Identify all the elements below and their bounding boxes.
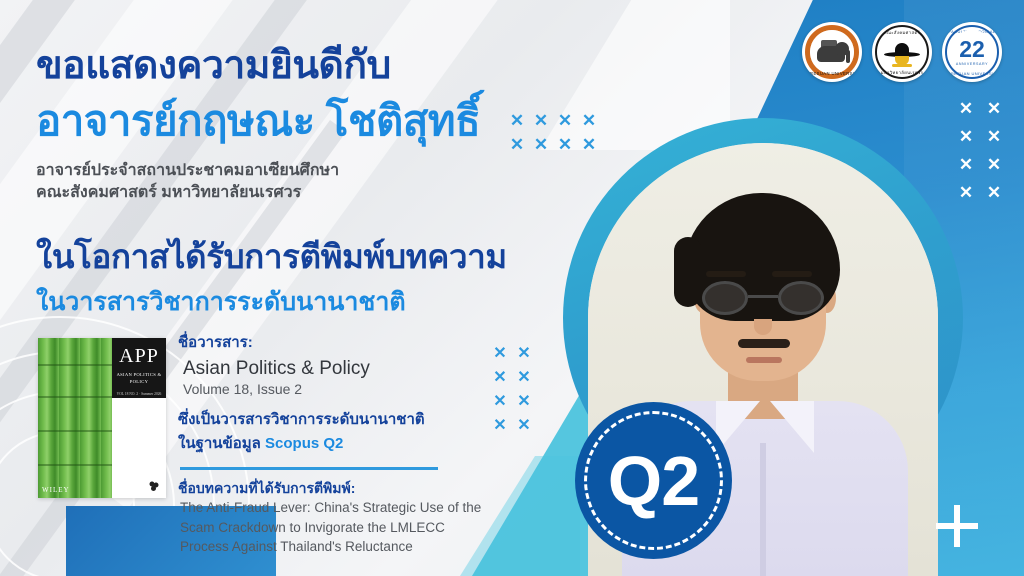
anniversary-number: 22: [959, 38, 985, 61]
x-decoration-icon: ✕: [512, 370, 536, 394]
section-divider: [180, 467, 438, 470]
headline-congratulations: ขอแสดงความยินดีกับ: [36, 34, 391, 96]
headline-occasion-2: ในวารสารวิชาการระดับนานาชาติ: [36, 282, 406, 322]
x-decoration-icon: ✕: [488, 394, 512, 418]
cover-issue-line: VOL 18 NO. 2 · Summer 2026: [112, 392, 166, 396]
x-decoration-icon: ✕: [980, 184, 1008, 212]
cover-subtitle: ASIAN POLITICS & POLICY: [112, 372, 166, 386]
indexed-note-line-2: ในฐานข้อมูล Scopus Q2: [178, 431, 343, 455]
x-decoration-icon: ✕: [529, 136, 553, 160]
journal-volume-value: Volume 18, Issue 2: [183, 381, 302, 397]
x-decoration-icon: ✕: [488, 418, 512, 442]
x-decoration-icon: ✕: [952, 128, 980, 156]
shirt-placket: [760, 443, 766, 576]
x-decoration-icon: ✕: [512, 394, 536, 418]
x-decoration-icon: ✕: [980, 156, 1008, 184]
x-decoration-icon: ✕: [512, 346, 536, 370]
cover-masthead: APP ASIAN POLITICS & POLICY VOL 18 NO. 2…: [112, 338, 166, 398]
x-decoration-icon: ✕: [505, 112, 529, 136]
x-decoration-icon: ✕: [952, 184, 980, 212]
x-decoration-icon: ✕: [488, 370, 512, 394]
cover-title: APP: [112, 345, 166, 368]
naresuan-university-seal-icon: NARESUAN UNIVERSITY: [802, 22, 862, 82]
x-decoration-icon: ✕: [529, 112, 553, 136]
seal-arc-bottom: มหาวิทยาลัยนเรศวร: [872, 69, 932, 76]
x-decoration-icon: ✕: [512, 418, 536, 442]
x-decoration-icon: ✕: [553, 112, 577, 136]
indexed-note-line-1: ซึ่งเป็นวารสารวิชาการระดับนานาชาติ: [178, 407, 425, 431]
plus-decoration-icon: [936, 505, 978, 547]
anniversary-word: ANNIVERSARY: [956, 62, 988, 66]
x-decoration-icon: ✕: [488, 346, 512, 370]
x-decoration-grid-panel: ✕✕✕✕✕✕✕✕: [952, 100, 1008, 212]
article-title-value: The Anti-Fraud Lever: China's Strategic …: [180, 498, 492, 557]
indexed-database-name: Scopus Q2: [265, 435, 343, 452]
headline-occasion-1: ในโอกาสได้รับการตีพิมพ์บทความ: [36, 230, 507, 283]
x-decoration-icon: ✕: [577, 112, 601, 136]
article-title-label: ชื่อบทความที่ได้รับการตีพิมพ์:: [178, 478, 355, 500]
moustache: [738, 339, 790, 348]
x-decoration-icon: ✕: [952, 156, 980, 184]
x-decoration-icon: ✕: [952, 100, 980, 128]
seal-arc-bottom: NARESUAN UNIVERSITY: [802, 71, 862, 76]
x-decoration-icon: ✕: [980, 100, 1008, 128]
wiley-mark-icon: [148, 480, 160, 492]
faculty-of-social-sciences-seal-icon: คณะสังคมศาสตร์ มหาวิทยาลัยนเรศวร: [872, 22, 932, 82]
collar-right: [770, 401, 814, 453]
eyebrow-right: [772, 271, 812, 277]
quartile-badge: Q2: [575, 402, 732, 559]
x-decoration-icon: ✕: [577, 136, 601, 160]
anniversary-badge-icon: FACULTY OF SOCIAL SCIENCES 22 ANNIVERSAR…: [942, 22, 1002, 82]
badge-arc-bottom: NARESUAN UNIVERSITY: [942, 71, 1002, 76]
x-decoration-grid-journal: ✕✕✕✕✕✕✕✕: [488, 346, 536, 442]
bamboo-artwork: [38, 338, 112, 498]
x-decoration-icon: ✕: [980, 128, 1008, 156]
publisher-logo: WILEY: [42, 486, 70, 494]
indexed-database-prefix: ในฐานข้อมูล: [178, 435, 265, 452]
eyeglasses: [700, 281, 826, 315]
eyebrow-left: [706, 271, 746, 277]
x-decoration-icon: ✕: [505, 136, 529, 160]
x-decoration-grid-headline: ✕✕✕✕✕✕✕✕: [505, 112, 601, 160]
mouth: [746, 357, 782, 363]
quartile-label: Q2: [608, 446, 699, 516]
logo-row: NARESUAN UNIVERSITY คณะสังคมศาสตร์ มหาวิ…: [802, 22, 1002, 82]
journal-name-value: Asian Politics & Policy: [183, 358, 370, 380]
journal-name-label: ชื่อวารสาร:: [178, 330, 253, 354]
congratulations-banner: Q2 NARESUAN UNIVERSITY คณะสังคมศาสตร์ มห…: [0, 0, 1024, 576]
headline-person-name: อาจารย์กฤษณะ โชติสุทธิ์: [36, 88, 480, 154]
affiliation-line-2: คณะสังคมศาสตร์ มหาวิทยาลัยนเรศวร: [36, 180, 301, 205]
x-decoration-icon: ✕: [553, 136, 577, 160]
journal-cover-image: APP ASIAN POLITICS & POLICY VOL 18 NO. 2…: [38, 338, 166, 498]
